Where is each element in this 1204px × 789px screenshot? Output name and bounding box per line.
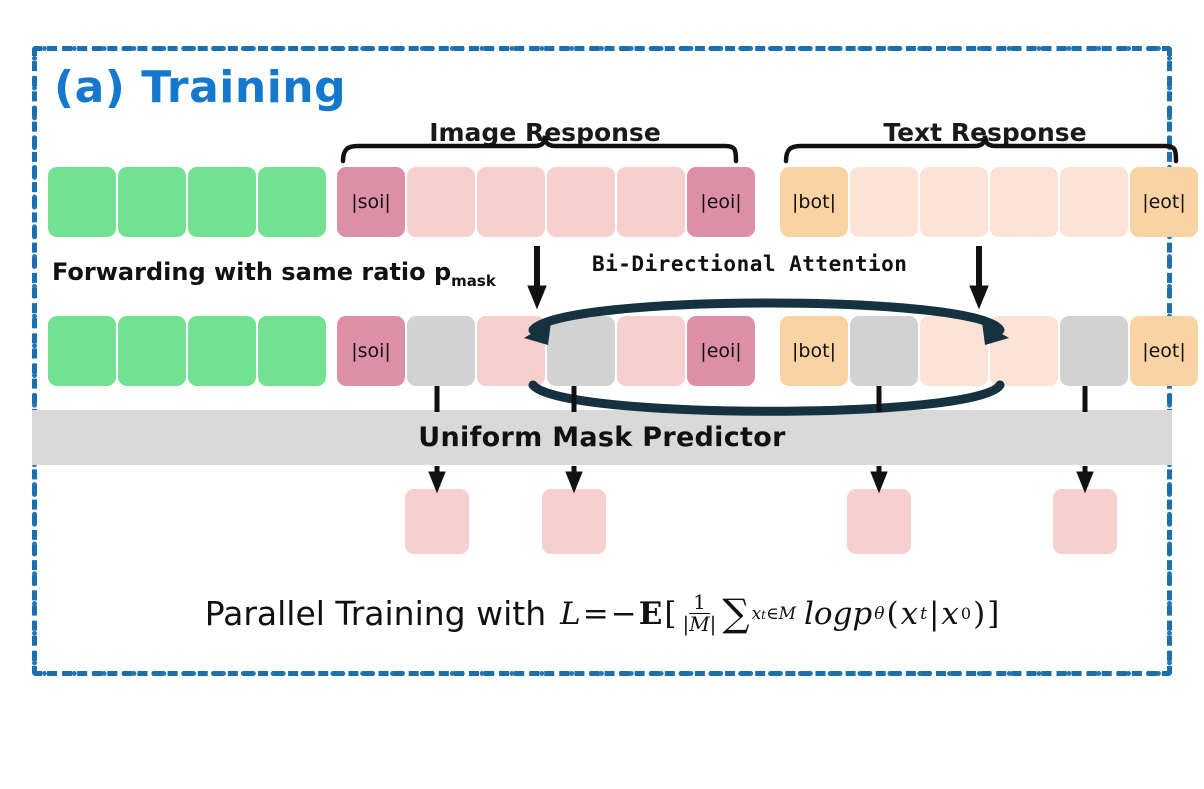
row2-text-token-3 (990, 316, 1058, 386)
bidirectional-attention-label: Bi-Directional Attention (592, 252, 907, 276)
row2-prompt-token-2 (188, 316, 256, 386)
row2-image-token-1 (407, 316, 475, 386)
formula-close-bracket: ] (987, 596, 999, 632)
uniform-mask-predictor-bar: Uniform Mask Predictor (32, 410, 1172, 465)
token-label: |eot| (1142, 191, 1186, 213)
figure-canvas: (a) Training Image Response Text Respons… (0, 0, 1204, 789)
token-label: |eot| (1142, 340, 1186, 362)
row2-prompt-token-0 (48, 316, 116, 386)
formula-frac-denominator: |M| (679, 614, 719, 635)
formula-equals: = (583, 596, 609, 632)
row1-text-token-1 (850, 167, 918, 237)
row2-image-token-3 (547, 316, 615, 386)
row1-text-token-4 (1060, 167, 1128, 237)
formula-open-bracket: [ (664, 596, 676, 632)
token-label: |soi| (351, 340, 391, 362)
token-label: |eoi| (700, 340, 741, 362)
formula-arg-x: x (901, 596, 918, 632)
token-label: |bot| (792, 191, 836, 213)
uniform-mask-predictor-label: Uniform Mask Predictor (418, 422, 785, 453)
formula-arg-x0: x (941, 596, 958, 632)
row1-image-token-3 (547, 167, 615, 237)
formula-arg-x0-subscript: 0 (961, 604, 971, 623)
row1-text-token-2 (920, 167, 988, 237)
row1-image-token-5: |eoi| (687, 167, 755, 237)
row2-image-token-2 (477, 316, 545, 386)
row1-prompt-token-3 (258, 167, 326, 237)
group-label-image-response: Image Response (415, 118, 675, 147)
row1-image-token-4 (617, 167, 685, 237)
formula-sum-subscript: xt∈M (752, 604, 796, 624)
formula-theta: θ (874, 604, 884, 624)
formula-arg-open: ( (887, 596, 899, 632)
parallel-training-label: Parallel Training with (205, 594, 546, 633)
group-label-text-response: Text Response (855, 118, 1115, 147)
row2-image-token-4 (617, 316, 685, 386)
row2-text-token-2 (920, 316, 988, 386)
row1-prompt-token-0 (48, 167, 116, 237)
formula-frac-numerator: 1 (689, 592, 710, 614)
row1-image-token-0: |soi| (337, 167, 405, 237)
formula-logp: logp (804, 596, 872, 632)
row2-image-token-5: |eoi| (687, 316, 755, 386)
output-token-0 (405, 489, 469, 554)
formula-minus: − (611, 596, 637, 632)
row2-image-token-0: |soi| (337, 316, 405, 386)
formula-arg-x-subscript: t (920, 604, 927, 624)
row2-prompt-token-1 (118, 316, 186, 386)
forwarding-label-subscript: mask (451, 272, 496, 290)
row1-text-token-0: |bot| (780, 167, 848, 237)
output-token-1 (542, 489, 606, 554)
row2-text-token-0: |bot| (780, 316, 848, 386)
row2-text-token-4 (1060, 316, 1128, 386)
row1-prompt-token-1 (118, 167, 186, 237)
token-label: |eoi| (700, 191, 741, 213)
loss-formula-row: Parallel Training with L = − E [ 1 |M| ∑… (0, 592, 1204, 635)
row2-text-token-5: |eot| (1130, 316, 1198, 386)
row1-image-token-1 (407, 167, 475, 237)
row1-image-token-2 (477, 167, 545, 237)
row2-text-token-1 (850, 316, 918, 386)
page-title: (a) Training (54, 62, 346, 113)
row1-prompt-token-2 (188, 167, 256, 237)
row1-text-token-5: |eot| (1130, 167, 1198, 237)
token-label: |bot| (792, 340, 836, 362)
formula-expectation: E (639, 596, 663, 632)
forwarding-label: Forwarding with same ratio pmask (52, 258, 496, 290)
token-label: |soi| (351, 191, 391, 213)
loss-formula: L = − E [ 1 |M| ∑ xt∈M logp θ ( x t | x … (560, 592, 999, 635)
output-token-3 (1053, 489, 1117, 554)
formula-lhs: L (560, 596, 581, 632)
formula-sum: ∑ (722, 598, 749, 628)
output-token-2 (847, 489, 911, 554)
formula-arg-bar: | (929, 596, 939, 632)
formula-arg-close: ) (973, 596, 985, 632)
forwarding-label-text: Forwarding with same ratio p (52, 258, 451, 286)
row2-prompt-token-3 (258, 316, 326, 386)
row1-text-token-3 (990, 167, 1058, 237)
formula-fraction: 1 |M| (679, 592, 719, 635)
